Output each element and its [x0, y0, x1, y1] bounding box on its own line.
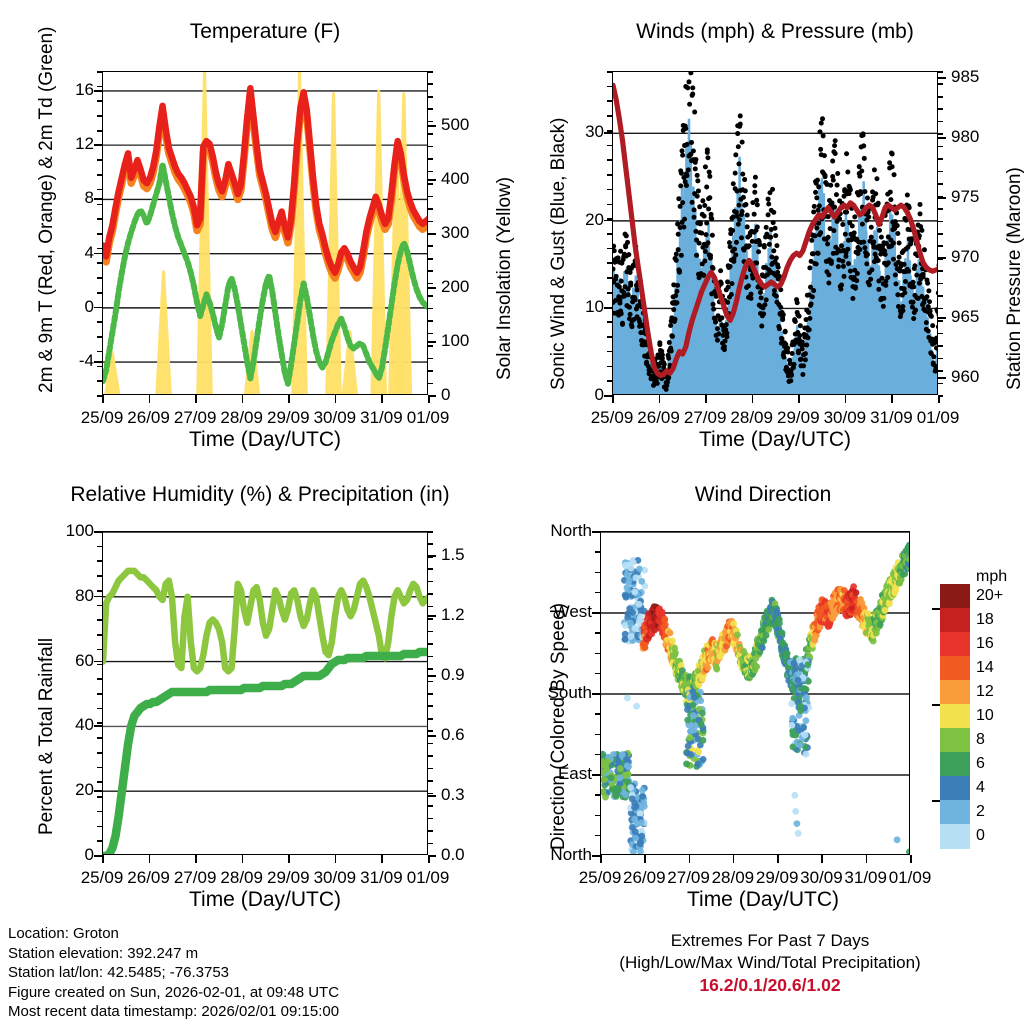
- y-minor-tick: [607, 174, 612, 176]
- y-minor-tick: [607, 248, 612, 250]
- y-tick-label-right: 0.0: [441, 845, 465, 865]
- y-minor-tick: [607, 292, 612, 294]
- y-tick-left: [94, 661, 102, 663]
- colorbar-tick: [932, 704, 940, 706]
- x-tick-label: 01/09: [917, 408, 960, 428]
- y-tick-right: [938, 317, 946, 319]
- y-minor-tick: [97, 811, 102, 813]
- y-minor-tick-right: [938, 345, 943, 347]
- panel-humidity-precip: Relative Humidity (%) & Precipitation (i…: [0, 460, 512, 920]
- x-tick-label: 27/09: [174, 408, 217, 428]
- y-minor-tick: [97, 649, 102, 651]
- y-minor-tick: [595, 835, 600, 837]
- y-minor-tick: [97, 248, 102, 250]
- x-tick: [242, 855, 244, 863]
- wind-direction-title: Wind Direction: [600, 483, 926, 507]
- y-minor-tick: [607, 380, 612, 382]
- x-tick-label: 25/09: [81, 408, 124, 428]
- x-tick: [644, 855, 646, 863]
- y-tick-right: [428, 179, 436, 181]
- colorbar-unit-label: mph: [976, 568, 1007, 586]
- y-minor-tick-right: [428, 146, 433, 148]
- y-minor-tick: [97, 71, 102, 73]
- x-tick-label: 27/09: [174, 868, 217, 888]
- y-minor-tick: [97, 115, 102, 117]
- x-tick: [689, 855, 691, 863]
- y-tick-right: [428, 675, 436, 677]
- colorbar-tick-label: 0: [976, 827, 985, 845]
- y-minor-tick-right: [428, 618, 433, 620]
- y-minor-tick: [97, 292, 102, 294]
- y-minor-tick: [97, 664, 102, 666]
- x-tick: [428, 395, 430, 403]
- y-minor-tick: [607, 86, 612, 88]
- y-minor-tick: [97, 321, 102, 323]
- y-minor-tick: [97, 130, 102, 132]
- y-minor-tick-right: [938, 121, 943, 123]
- y-minor-tick-right: [428, 730, 433, 732]
- y-tick-label-left: 20: [44, 780, 94, 800]
- y-tick-right: [938, 77, 946, 79]
- y-minor-tick: [607, 71, 612, 73]
- y-minor-tick: [607, 366, 612, 368]
- y-minor-tick: [607, 130, 612, 132]
- y-tick-label-left: 40: [44, 715, 94, 735]
- y-minor-tick-right: [938, 295, 943, 297]
- y-tick-right: [938, 137, 946, 139]
- y-minor-tick: [595, 632, 600, 634]
- y-tick-label-left: 0: [554, 385, 604, 405]
- y-minor-tick: [97, 174, 102, 176]
- colorbar-tick-label: 12: [976, 683, 994, 701]
- x-tick-label: 31/09: [844, 868, 887, 888]
- y-minor-tick: [607, 336, 612, 338]
- y-tick-label-right: 985: [951, 67, 979, 87]
- colorbar-tick-label: 6: [976, 755, 985, 773]
- y-tick-label-left: 10: [554, 297, 604, 317]
- colorbar-swatch: [940, 776, 970, 801]
- y-minor-tick: [607, 351, 612, 353]
- y-minor-tick: [97, 336, 102, 338]
- y-minor-tick-right: [428, 643, 433, 645]
- y-minor-tick-right: [938, 320, 943, 322]
- y-minor-tick-right: [428, 345, 433, 347]
- y-minor-tick-right: [428, 183, 433, 185]
- y-minor-tick: [97, 351, 102, 353]
- y-minor-tick: [595, 713, 600, 715]
- x-tick-label: 27/09: [684, 408, 727, 428]
- x-tick: [891, 395, 893, 403]
- y-minor-tick-right: [428, 83, 433, 85]
- colorbar-swatch: [940, 824, 970, 849]
- winds-xlabel: Time (Day/UTC): [699, 428, 851, 452]
- colorbar-swatch: [940, 728, 970, 753]
- y-minor-tick-right: [428, 631, 433, 633]
- y-minor-tick: [97, 796, 102, 798]
- panel-winds-pressure: Winds (mph) & Pressure (mb) Sonic Wind &…: [512, 0, 1024, 460]
- x-tick: [777, 855, 779, 863]
- y-minor-tick-right: [938, 108, 943, 110]
- y-minor-tick-right: [428, 743, 433, 745]
- temperature-series-svg: [103, 72, 428, 395]
- y-minor-tick-right: [428, 270, 433, 272]
- y-minor-tick-right: [428, 581, 433, 583]
- y-minor-tick-right: [428, 805, 433, 807]
- y-minor-tick-right: [428, 793, 433, 795]
- y-tick-label-left: 20: [554, 210, 604, 230]
- y-minor-tick-right: [428, 308, 433, 310]
- y-minor-tick: [97, 619, 102, 621]
- colorbar-tick-label: 20+: [976, 587, 1003, 605]
- colorbar-tick-label: 2: [976, 803, 985, 821]
- humidity-plot-frame: [102, 531, 428, 855]
- colorbar-tick-label: 8: [976, 731, 985, 749]
- y-tick-right: [428, 795, 436, 797]
- y-tick-right: [428, 341, 436, 343]
- y-minor-tick: [97, 307, 102, 309]
- y-tick-right: [428, 287, 436, 289]
- y-tick-right: [938, 197, 946, 199]
- y-minor-tick: [607, 262, 612, 264]
- x-tick-label: 28/09: [730, 408, 773, 428]
- y-tick-label-right: 500: [441, 115, 469, 135]
- y-minor-tick-right: [428, 718, 433, 720]
- y-minor-tick-right: [938, 270, 943, 272]
- y-minor-tick: [595, 612, 600, 614]
- y-tick-label-left: West: [528, 602, 592, 622]
- winds-ylabel-left: Sonic Wind & Gust (Blue, Black): [548, 118, 570, 390]
- y-minor-tick-right: [428, 158, 433, 160]
- station-info-line: Station elevation: 392.247 m: [8, 944, 339, 964]
- y-minor-tick: [595, 653, 600, 655]
- y-minor-tick-right: [428, 96, 433, 98]
- y-minor-tick-right: [938, 383, 943, 385]
- x-tick-label: 29/09: [267, 868, 310, 888]
- x-tick: [335, 395, 337, 403]
- x-tick: [288, 395, 290, 403]
- x-tick: [866, 855, 868, 863]
- y-minor-tick-right: [428, 370, 433, 372]
- y-minor-tick: [595, 551, 600, 553]
- x-tick: [752, 395, 754, 403]
- y-tick-label-right: 980: [951, 127, 979, 147]
- y-minor-tick-right: [428, 543, 433, 545]
- y-tick-label-right: 200: [441, 277, 469, 297]
- y-minor-tick-right: [938, 308, 943, 310]
- colorbar-tick-label: 10: [976, 707, 994, 725]
- x-tick: [612, 395, 614, 403]
- y-minor-tick-right: [428, 283, 433, 285]
- x-tick: [195, 395, 197, 403]
- x-tick: [335, 855, 337, 863]
- y-tick-right: [428, 615, 436, 617]
- station-info-line: Station lat/lon: 42.5485; -76.3753: [8, 963, 339, 983]
- humidity-title: Relative Humidity (%) & Precipitation (i…: [25, 483, 495, 507]
- y-minor-tick: [97, 233, 102, 235]
- y-tick-label-left: 30: [554, 122, 604, 142]
- y-minor-tick: [607, 321, 612, 323]
- y-tick-left: [94, 361, 102, 363]
- x-tick: [102, 855, 104, 863]
- extremes-title-line2: (High/Low/Max Wind/Total Precipitation): [619, 952, 920, 974]
- colorbar-swatch: [940, 752, 970, 777]
- x-tick: [195, 855, 197, 863]
- y-tick-label-left: 12: [44, 134, 94, 154]
- y-minor-tick-right: [428, 358, 433, 360]
- x-tick: [102, 395, 104, 403]
- colorbar-swatch: [940, 656, 970, 681]
- y-minor-tick: [97, 693, 102, 695]
- y-minor-tick-right: [428, 258, 433, 260]
- temperature-xlabel: Time (Day/UTC): [189, 428, 341, 452]
- y-minor-tick: [595, 815, 600, 817]
- y-minor-tick: [607, 204, 612, 206]
- y-minor-tick: [97, 277, 102, 279]
- colorbar-tick-label: 18: [976, 611, 994, 629]
- y-minor-tick-right: [938, 71, 943, 73]
- x-tick-label: 29/09: [777, 408, 820, 428]
- y-tick-label-left: 0: [44, 297, 94, 317]
- y-minor-tick-right: [428, 233, 433, 235]
- y-tick-label-left: 8: [44, 188, 94, 208]
- y-minor-tick-right: [938, 258, 943, 260]
- y-minor-tick-right: [428, 383, 433, 385]
- humidity-xlabel: Time (Day/UTC): [189, 888, 341, 912]
- y-tick-label-right: 0.9: [441, 665, 465, 685]
- wind-direction-series-svg: [601, 532, 910, 855]
- colorbar-swatch: [940, 704, 970, 729]
- y-minor-tick-right: [428, 780, 433, 782]
- y-tick-label-left: 4: [44, 243, 94, 263]
- y-minor-tick-right: [428, 531, 433, 533]
- y-minor-tick: [97, 145, 102, 147]
- y-minor-tick: [97, 86, 102, 88]
- y-tick-left: [94, 790, 102, 792]
- y-minor-tick-right: [428, 606, 433, 608]
- y-minor-tick-right: [428, 668, 433, 670]
- x-tick-label: 25/09: [579, 868, 622, 888]
- y-minor-tick: [595, 794, 600, 796]
- y-minor-tick-right: [428, 830, 433, 832]
- x-tick-label: 31/09: [360, 408, 403, 428]
- winds-series-svg: [613, 72, 938, 395]
- y-minor-tick: [607, 218, 612, 220]
- station-info-line: Figure created on Sun, 2026-02-01, at 09…: [8, 983, 339, 1003]
- y-tick-right: [428, 125, 436, 127]
- y-minor-tick: [97, 262, 102, 264]
- y-minor-tick-right: [938, 183, 943, 185]
- y-minor-tick: [97, 575, 102, 577]
- y-minor-tick: [595, 734, 600, 736]
- x-tick-label: 26/09: [637, 408, 680, 428]
- y-tick-label-left: 0: [44, 845, 94, 865]
- y-minor-tick: [607, 307, 612, 309]
- y-minor-tick-right: [428, 593, 433, 595]
- y-minor-tick: [97, 100, 102, 102]
- y-minor-tick: [97, 722, 102, 724]
- wind-speed-colorbar: [940, 584, 970, 848]
- y-minor-tick-right: [428, 556, 433, 558]
- y-minor-tick: [97, 840, 102, 842]
- y-tick-label-right: 0.6: [441, 725, 465, 745]
- y-minor-tick: [97, 634, 102, 636]
- y-minor-tick: [595, 531, 600, 533]
- y-tick-label-right: 1.5: [441, 545, 465, 565]
- x-tick: [288, 855, 290, 863]
- colorbar-swatch: [940, 680, 970, 705]
- x-tick: [910, 855, 912, 863]
- colorbar-swatch: [940, 632, 970, 657]
- y-minor-tick-right: [428, 693, 433, 695]
- y-minor-tick-right: [428, 681, 433, 683]
- colorbar-swatch: [940, 584, 970, 609]
- y-minor-tick-right: [938, 158, 943, 160]
- colorbar-tick-label: 16: [976, 635, 994, 653]
- x-tick-label: 01/09: [889, 868, 932, 888]
- y-minor-tick-right: [428, 568, 433, 570]
- y-tick-label-right: 960: [951, 367, 979, 387]
- y-minor-tick-right: [428, 818, 433, 820]
- winds-title: Winds (mph) & Pressure (mb): [612, 20, 938, 44]
- x-tick-label: 28/09: [220, 868, 263, 888]
- x-tick: [149, 395, 151, 403]
- y-minor-tick-right: [938, 83, 943, 85]
- y-minor-tick-right: [938, 245, 943, 247]
- x-tick: [242, 395, 244, 403]
- y-minor-tick: [607, 189, 612, 191]
- x-tick-label: 29/09: [267, 408, 310, 428]
- y-minor-tick-right: [428, 121, 433, 123]
- y-minor-tick: [607, 115, 612, 117]
- x-tick-label: 28/09: [220, 408, 263, 428]
- y-minor-tick-right: [938, 146, 943, 148]
- x-tick: [821, 855, 823, 863]
- wind-direction-ylabel: Direction (Colored By Speed): [548, 603, 570, 850]
- y-minor-tick-right: [428, 221, 433, 223]
- y-minor-tick-right: [938, 221, 943, 223]
- y-minor-tick: [97, 366, 102, 368]
- x-tick-label: 26/09: [127, 868, 170, 888]
- x-tick-label: 29/09: [756, 868, 799, 888]
- y-tick-label-left: 100: [44, 521, 94, 541]
- station-info-line: Most recent data timestamp: 2026/02/01 0…: [8, 1002, 339, 1022]
- x-tick: [149, 855, 151, 863]
- y-tick-label-right: 1.2: [441, 605, 465, 625]
- y-tick-label-right: 100: [441, 331, 469, 351]
- y-minor-tick: [607, 100, 612, 102]
- x-tick-label: 30/09: [314, 408, 357, 428]
- winds-ylabel-right: Station Pressure (Maroon): [1004, 167, 1024, 390]
- y-minor-tick: [97, 826, 102, 828]
- y-minor-tick: [607, 159, 612, 161]
- temperature-plot-frame: [102, 71, 428, 395]
- y-minor-tick-right: [938, 233, 943, 235]
- y-minor-tick: [595, 673, 600, 675]
- x-tick-label: 31/09: [360, 868, 403, 888]
- x-tick-label: 25/09: [81, 868, 124, 888]
- x-tick: [733, 855, 735, 863]
- x-tick: [381, 395, 383, 403]
- y-minor-tick: [97, 204, 102, 206]
- y-tick-label-right: 300: [441, 223, 469, 243]
- x-tick-label: 27/09: [667, 868, 710, 888]
- colorbar-swatch: [940, 800, 970, 825]
- y-tick-label-left: 80: [44, 586, 94, 606]
- winds-plot-frame: [612, 71, 938, 395]
- y-tick-left: [94, 253, 102, 255]
- y-tick-right: [428, 735, 436, 737]
- y-tick-right: [938, 377, 946, 379]
- y-minor-tick-right: [938, 96, 943, 98]
- y-minor-tick-right: [938, 133, 943, 135]
- y-minor-tick-right: [428, 171, 433, 173]
- wind-direction-plot-frame: [600, 531, 910, 855]
- x-tick: [798, 395, 800, 403]
- y-tick-label-left: 60: [44, 651, 94, 671]
- station-info-line: Location: Groton: [8, 924, 339, 944]
- y-tick-left: [94, 596, 102, 598]
- y-minor-tick: [607, 277, 612, 279]
- x-tick-label: 31/09: [870, 408, 913, 428]
- y-tick-label-right: 975: [951, 187, 979, 207]
- y-minor-tick-right: [428, 333, 433, 335]
- y-tick-label-right: 0.3: [441, 785, 465, 805]
- weather-dashboard: Temperature (F) 2m & 9m T (Red, Orange) …: [0, 0, 1024, 1024]
- y-minor-tick: [607, 233, 612, 235]
- y-tick-label-left: South: [528, 683, 592, 703]
- station-info-footer: Location: GrotonStation elevation: 392.2…: [8, 924, 339, 1022]
- x-tick-label: 26/09: [623, 868, 666, 888]
- y-minor-tick-right: [428, 71, 433, 73]
- x-tick: [600, 855, 602, 863]
- x-tick-label: 01/09: [407, 408, 450, 428]
- y-tick-label-left: East: [528, 764, 592, 784]
- x-tick-label: 30/09: [314, 868, 357, 888]
- y-tick-left: [604, 220, 612, 222]
- y-minor-tick: [595, 754, 600, 756]
- y-tick-label-right: 400: [441, 169, 469, 189]
- humidity-series-svg: [103, 532, 428, 855]
- x-tick: [938, 395, 940, 403]
- y-minor-tick-right: [938, 171, 943, 173]
- y-minor-tick-right: [428, 843, 433, 845]
- y-minor-tick-right: [428, 133, 433, 135]
- colorbar-tick: [932, 608, 940, 610]
- x-tick: [381, 855, 383, 863]
- y-tick-left: [604, 132, 612, 134]
- y-minor-tick: [97, 159, 102, 161]
- y-minor-tick: [97, 560, 102, 562]
- colorbar-tick-label: 4: [976, 779, 985, 797]
- y-minor-tick-right: [938, 358, 943, 360]
- y-minor-tick: [97, 678, 102, 680]
- x-tick-label: 25/09: [591, 408, 634, 428]
- colorbar-tick-label: 14: [976, 659, 994, 677]
- y-minor-tick-right: [428, 208, 433, 210]
- wind-direction-xlabel: Time (Day/UTC): [687, 888, 839, 912]
- y-minor-tick: [97, 590, 102, 592]
- y-minor-tick-right: [938, 333, 943, 335]
- y-minor-tick: [595, 693, 600, 695]
- y-minor-tick-right: [428, 656, 433, 658]
- y-tick-left: [94, 725, 102, 727]
- y-minor-tick: [97, 546, 102, 548]
- x-tick-label: 30/09: [800, 868, 843, 888]
- y-minor-tick-right: [428, 295, 433, 297]
- x-tick-label: 26/09: [127, 408, 170, 428]
- x-tick: [659, 395, 661, 403]
- y-minor-tick-right: [938, 196, 943, 198]
